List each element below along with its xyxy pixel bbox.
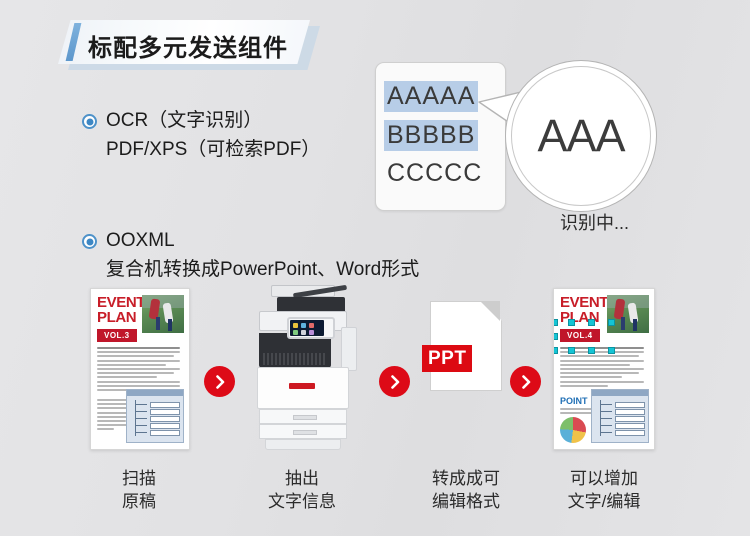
radio-bullet-icon [82, 114, 97, 129]
selection-handle[interactable] [608, 347, 615, 354]
chevron-right-icon [204, 366, 235, 397]
recognition-speech-bubble: AAA [505, 60, 665, 220]
ocr-line-3: CCCCC [387, 159, 482, 188]
printer-touchscreen [290, 320, 324, 336]
doc-body-text [97, 347, 183, 393]
edited-document-thumbnail: EVENT PLAN VOL.4 POINT [553, 288, 655, 450]
chevron-right-icon [379, 366, 410, 397]
feature-ooxml: OOXML 复合机转换成PowerPoint、Word形式 [82, 228, 419, 283]
ocr-line-1: AAAAA [384, 81, 478, 112]
infographic-stage: 标配多元发送组件 OCR（文字识别） PDF/XPS（可检索PDF） OOXML… [0, 0, 750, 536]
doc-volume-1: VOL.3 [97, 329, 137, 342]
ocr-line-2: BBBBB [384, 120, 478, 151]
feature-ooxml-subtitle: 复合机转换成PowerPoint、Word形式 [106, 257, 419, 283]
selection-handle[interactable] [553, 319, 558, 326]
chevron-right-icon [510, 366, 541, 397]
canon-logo [289, 383, 315, 389]
step-caption-2-line1: 抽出 [250, 467, 354, 490]
step-caption-3-line1: 转成成可 [412, 467, 520, 490]
radio-bullet-icon [82, 234, 97, 249]
step-caption-2-line2: 文字信息 [250, 490, 354, 513]
feature-ocr-subtitle: PDF/XPS（可检索PDF） [106, 137, 320, 163]
step-caption-2: 抽出 文字信息 [250, 467, 354, 513]
ppt-badge: PPT [422, 345, 472, 372]
step-caption-3-line2: 编辑格式 [412, 490, 520, 513]
selection-handle[interactable] [588, 319, 595, 326]
selection-handle[interactable] [568, 347, 575, 354]
step-caption-3: 转成成可 编辑格式 [412, 467, 520, 513]
step-caption-4-line2: 文字/编辑 [553, 490, 655, 513]
ppt-file-icon: PPT [430, 301, 500, 389]
step-caption-4: 可以增加 文字/编辑 [553, 467, 655, 513]
feature-ocr-row: OCR（文字识别） [82, 108, 320, 134]
selection-handle[interactable] [568, 319, 575, 326]
doc-photo [142, 295, 184, 333]
doc-volume-4: VOL.4 [560, 329, 600, 342]
selection-handle[interactable] [553, 333, 558, 340]
document-sheet: EVENT PLAN VOL.4 POINT [554, 289, 654, 449]
doc-photo [607, 295, 649, 333]
selection-handle[interactable] [553, 347, 558, 354]
feature-ooxml-row: OOXML [82, 228, 419, 254]
multifunction-printer [243, 283, 363, 453]
step-caption-1-line2: 原稿 [91, 490, 187, 513]
document-sheet: EVENT PLAN VOL.3 [91, 289, 189, 449]
header-banner: 标配多元发送组件 [58, 20, 320, 64]
step-caption-4-line1: 可以增加 [553, 467, 655, 490]
pie-chart [560, 417, 586, 443]
selection-handle[interactable] [608, 319, 615, 326]
step-caption-1-line1: 扫描 [91, 467, 187, 490]
ocr-document-card: AAAAA BBBBB CCCCC [375, 62, 506, 211]
bubble-text: AAA [505, 60, 657, 212]
workflow-row: EVENT PLAN VOL.3 [0, 283, 750, 473]
doc-diagram [126, 389, 184, 443]
page-title: 标配多元发送组件 [88, 28, 288, 63]
scanned-document-thumbnail: EVENT PLAN VOL.3 [90, 288, 190, 450]
feature-ocr-title: OCR（文字识别） [106, 108, 262, 134]
feature-ocr: OCR（文字识别） PDF/XPS（可检索PDF） [82, 108, 320, 163]
selection-handle[interactable] [588, 347, 595, 354]
recognition-status-text: 识别中... [560, 209, 629, 235]
step-caption-1: 扫描 原稿 [91, 467, 187, 513]
doc-diagram [591, 389, 649, 443]
feature-ooxml-title: OOXML [106, 228, 175, 254]
